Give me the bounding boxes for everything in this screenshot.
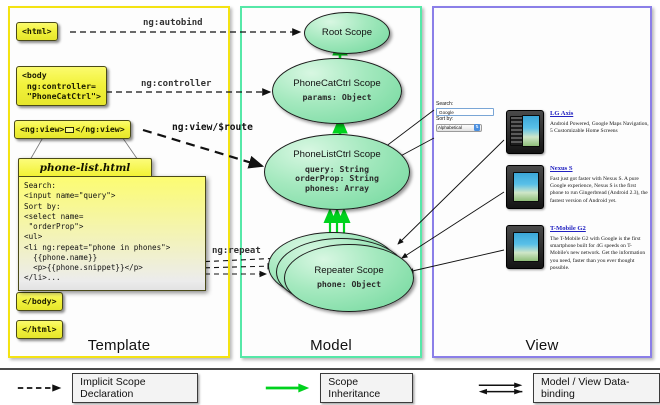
scope-phonecatctrl-name: PhoneCatCtrl Scope (293, 79, 380, 90)
column-label-template: Template (10, 337, 228, 354)
phone-description: Fast just got faster with Nexus S. A pur… (550, 176, 650, 205)
code-chip-html-close: </html> (16, 320, 63, 339)
phone-screen-icon (513, 172, 539, 202)
ngview-close-tag: </ng:view> (75, 124, 124, 134)
search-label: Search: (436, 101, 496, 108)
column-label-view: View (434, 337, 650, 354)
legend-label-data-binding: Model / View Data-binding (533, 373, 660, 403)
column-label-model: Model (242, 337, 420, 354)
scope-repeater: Repeater Scope phone: Object (284, 244, 414, 312)
sort-select[interactable]: Alphabetical ⇅ (436, 124, 482, 132)
code-chip-body-close: </body> (16, 292, 63, 311)
partial-file-callout: phone-list.html Search: <input name="que… (18, 158, 206, 291)
scope-root-name: Root Scope (322, 28, 372, 39)
phone-thumbnail-icon (506, 110, 544, 154)
phone-text-block: LG Axis Android Powered, Google Maps Nav… (550, 110, 650, 154)
scope-phonelistctrl-props: query: String orderProp: String phones: … (295, 165, 379, 195)
phone-thumbnail-icon (506, 225, 544, 269)
code-chip-ngview: <ng:view></ng:view> (14, 120, 131, 139)
search-input[interactable]: Google (436, 108, 494, 116)
partial-file-code: Search: <input name="query"> Sort by: <s… (18, 176, 206, 291)
scope-repeater-props: phone: Object (317, 280, 381, 290)
phone-thumbnail-icon (506, 165, 544, 209)
phone-name-link[interactable]: LG Axis (550, 110, 650, 118)
legend-bar: Implicit Scope Declaration Scope Inherit… (0, 368, 660, 405)
phone-description: Android Powered, Google Maps Navigation,… (550, 121, 650, 136)
connector-label-route: ng:view/$route (172, 122, 253, 133)
chevron-down-icon: ⇅ (474, 124, 480, 130)
green-arrow-icon (264, 380, 311, 396)
legend-item-scope-inheritance: Scope Inheritance (264, 370, 413, 405)
sort-label: Sort by: (436, 116, 496, 123)
scope-root: Root Scope (304, 12, 390, 54)
code-chip-html-open: <html> (16, 22, 58, 41)
scope-repeater-name: Repeater Scope (314, 266, 383, 277)
connector-label-autobind: ng:autobind (143, 18, 203, 28)
dashed-arrow-icon (16, 380, 63, 396)
phone-text-block: T-Mobile G2 The T-Mobile G2 with Google … (550, 225, 650, 272)
connector-label-repeat: ng:repeat (212, 246, 261, 256)
legend-label-implicit-scope: Implicit Scope Declaration (72, 373, 198, 403)
ngview-open-tag: <ng:view> (20, 124, 64, 134)
sort-select-value: Alphabetical (438, 125, 474, 130)
search-widget: Search: Google Sort by: Alphabetical ⇅ (436, 101, 496, 132)
connector-label-controller: ng:controller (141, 79, 211, 89)
phone-screen-icon (513, 232, 539, 262)
scope-phonecatctrl-props: params: Object (302, 93, 371, 103)
phone-text-block: Nexus S Fast just got faster with Nexus … (550, 165, 650, 209)
phone-description: The T-Mobile G2 with Google is the first… (550, 236, 650, 272)
scope-phonecatctrl: PhoneCatCtrl Scope params: Object (272, 58, 402, 124)
ngview-placeholder-icon (65, 127, 74, 133)
phone-list-item[interactable]: LG Axis Android Powered, Google Maps Nav… (506, 110, 650, 154)
legend-label-scope-inheritance: Scope Inheritance (320, 373, 413, 403)
scope-phonelistctrl: PhoneListCtrl Scope query: String orderP… (264, 134, 410, 210)
phone-name-link[interactable]: Nexus S (550, 165, 650, 173)
legend-item-data-binding: Model / View Data-binding (477, 370, 660, 405)
code-chip-body-open: <body ng:controller= "PhoneCatCtrl"> (16, 66, 107, 106)
phone-name-link[interactable]: T-Mobile G2 (550, 225, 650, 233)
double-arrow-icon (477, 380, 524, 396)
phone-list-item[interactable]: T-Mobile G2 The T-Mobile G2 with Google … (506, 225, 650, 272)
phone-list-item[interactable]: Nexus S Fast just got faster with Nexus … (506, 165, 650, 209)
legend-item-implicit-scope: Implicit Scope Declaration (16, 370, 198, 405)
partial-file-name: phone-list.html (18, 158, 152, 176)
scope-phonelistctrl-name: PhoneListCtrl Scope (293, 150, 380, 161)
diagram-canvas: Template Model View (0, 0, 660, 405)
phone-screen-icon (522, 115, 540, 147)
